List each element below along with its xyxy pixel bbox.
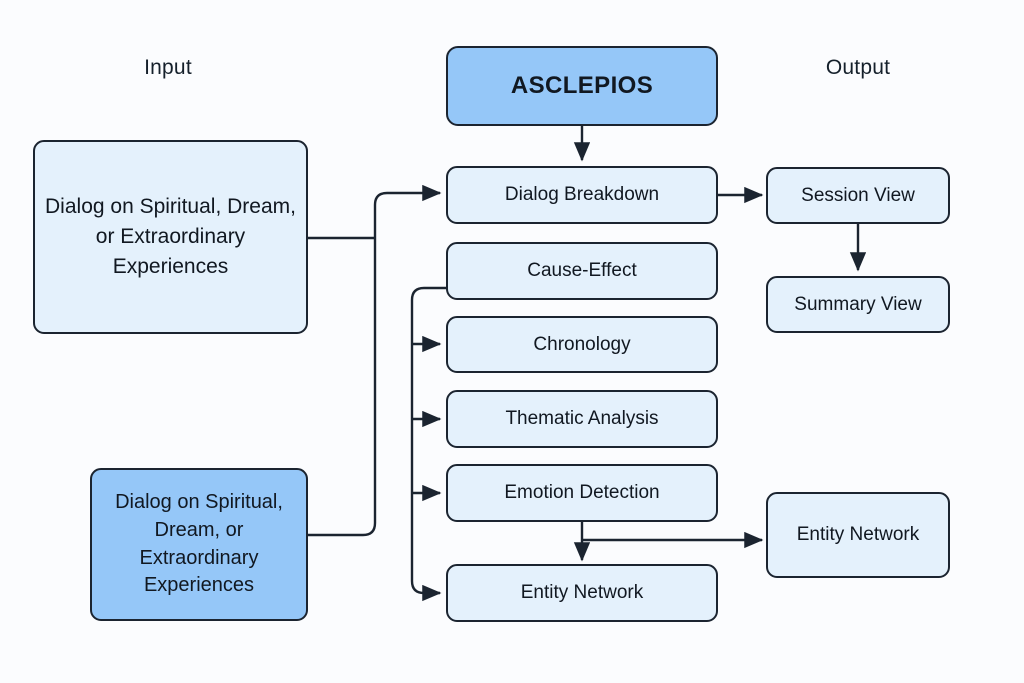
output-node-session-view: Session View bbox=[766, 167, 950, 224]
edge-input-bottom-to-bus bbox=[308, 238, 375, 535]
column-title-input: Input bbox=[88, 56, 248, 80]
column-title-output: Output bbox=[778, 56, 938, 80]
input-node-bottom: Dialog on Spiritual, Dream, or Extraordi… bbox=[90, 468, 308, 621]
module-node-emotion-detection: Emotion Detection bbox=[446, 464, 718, 522]
diagram-canvas: Input Output ASCLEPIOS Dialog on Spiritu… bbox=[0, 0, 1024, 683]
edge-bus-to-dialog-breakdown bbox=[375, 193, 440, 238]
input-node-top: Dialog on Spiritual, Dream, or Extraordi… bbox=[33, 140, 308, 334]
output-node-summary-view: Summary View bbox=[766, 276, 950, 333]
module-node-chronology: Chronology bbox=[446, 316, 718, 373]
output-node-entity-network: Entity Network bbox=[766, 492, 950, 578]
module-node-thematic-analysis: Thematic Analysis bbox=[446, 390, 718, 448]
module-node-entity-network: Entity Network bbox=[446, 564, 718, 622]
module-node-cause-effect: Cause-Effect bbox=[446, 242, 718, 300]
system-title-node: ASCLEPIOS bbox=[446, 46, 718, 126]
module-node-dialog-breakdown: Dialog Breakdown bbox=[446, 166, 718, 224]
edge-cause-effect-bus-trunk bbox=[412, 288, 446, 593]
